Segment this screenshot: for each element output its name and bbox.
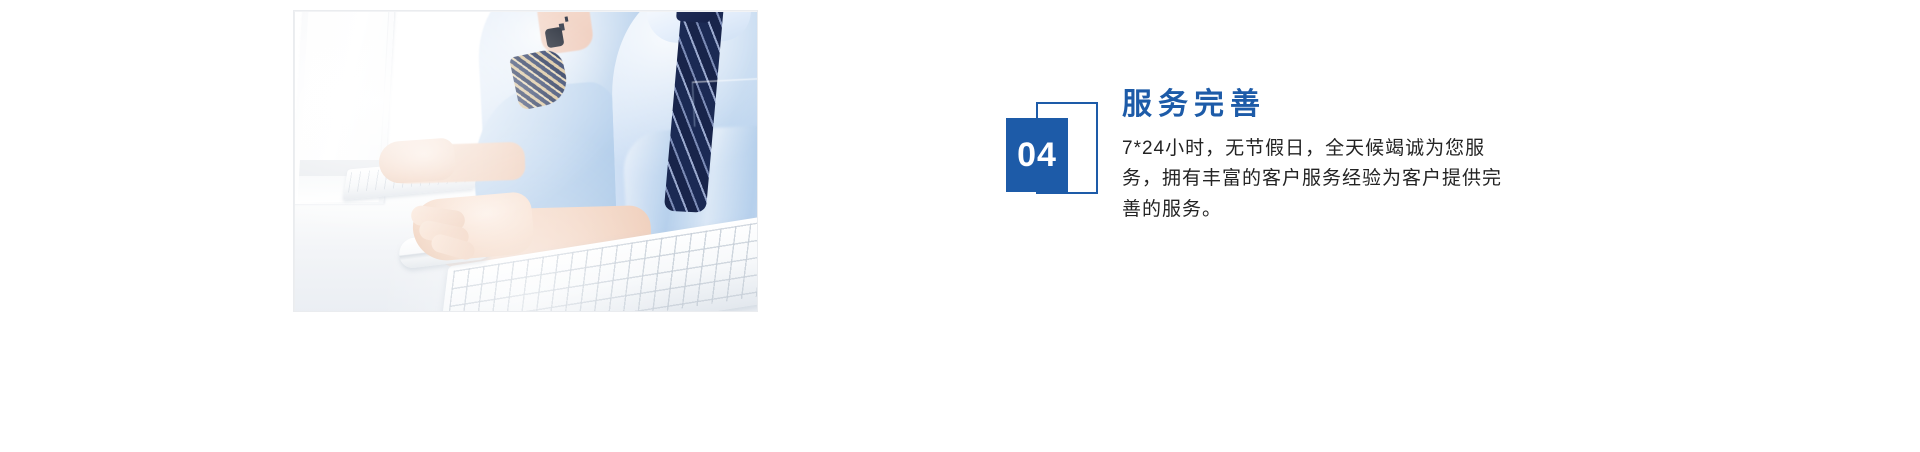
photo-stage xyxy=(295,12,757,311)
step-number-badge: 04 xyxy=(1006,102,1098,202)
customer-service-staff-photo xyxy=(294,11,757,311)
service-feature-banner: 04 服务完善 7*24小时，无节假日，全天候竭诚为您服务，拥有丰富的客户服务经… xyxy=(0,0,1920,452)
feature-title: 服务完善 xyxy=(1122,88,1552,123)
feature-description: 7*24小时，无节假日，全天候竭诚为您服务，拥有丰富的客户服务经验为客户提供完善… xyxy=(1122,134,1518,226)
feature-text-column: 服务完善 7*24小时，无节假日，全天候竭诚为您服务，拥有丰富的客户服务经验为客… xyxy=(1122,88,1552,226)
agent-back-hand xyxy=(378,137,457,184)
badge-number: 04 xyxy=(1006,118,1068,192)
headset-icon xyxy=(544,27,564,49)
shirt-pocket xyxy=(692,78,757,126)
monitor-bezel xyxy=(300,12,389,160)
